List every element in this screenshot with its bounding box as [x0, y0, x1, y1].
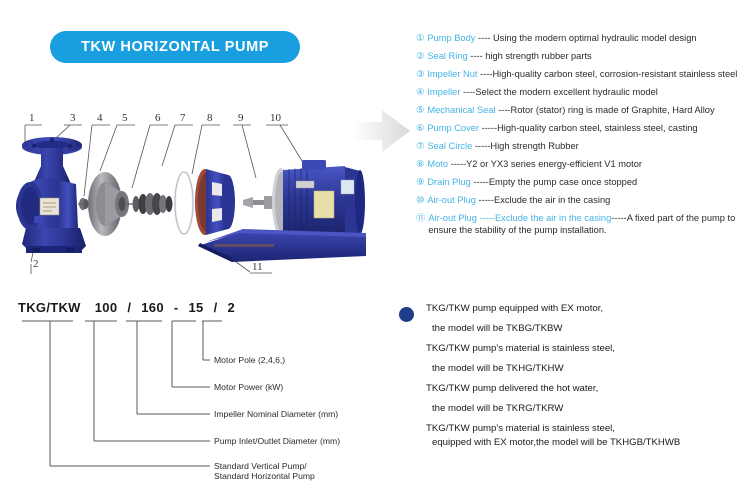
legend-number-8: ⑧	[416, 159, 424, 171]
callout-6: 6	[155, 112, 161, 124]
page-title-label: TKW HORIZONTAL PUMP	[81, 39, 269, 55]
callout-11: 11	[252, 261, 263, 273]
legend-item-3: ③ Impeller Nut ----High-quality carbon s…	[416, 69, 752, 81]
exploded-pump-figure: 1 3 4 5 6 7	[0, 96, 390, 286]
note-line-5: TKG/TKW pump delivered the hot water,	[426, 383, 751, 394]
callout-10: 10	[270, 112, 282, 124]
legend-item-10: ⑩ Air-out Plug -----Exclude the air in t…	[416, 195, 752, 207]
legend-item-6: ⑥ Pump Cover -----High-quality carbon st…	[416, 123, 752, 135]
callout-1: 1	[29, 112, 35, 124]
breakdown-label-motor-power: Motor Power (kW)	[214, 382, 283, 392]
legend-item-7: ⑦ Seal Circle -----High strength Rubber	[416, 141, 752, 153]
breakdown-label-motor-pole: Motor Pole (2,4,6,)	[214, 355, 285, 365]
note-line-4: the model will be TKHG/TKHW	[432, 363, 751, 374]
legend-number-5: ⑤	[416, 105, 424, 117]
legend-text-10: Air-out Plug -----Exclude the air in the…	[427, 195, 752, 207]
legend-text-4: Impeller ----Select the modern excellent…	[427, 87, 752, 99]
legend-text-8: Moto -----Y2 or YX3 series energy-effici…	[427, 159, 752, 171]
callout-3: 3	[70, 112, 76, 124]
page-title: TKW HORIZONTAL PUMP	[50, 31, 300, 63]
breakdown-label-standard-pump: Standard Vertical Pump/ Standard Horizon…	[214, 461, 315, 482]
pump-illustration: 1 3 4 5 6 7	[0, 96, 390, 286]
impeller-part	[88, 172, 129, 236]
legend-number-2: ②	[416, 51, 424, 63]
legend-item-1: ① Pump Body ---- Using the modern optima…	[416, 33, 752, 45]
legend-text-7: Seal Circle -----High strength Rubber	[427, 141, 752, 153]
legend-number-10: ⑩	[416, 195, 424, 207]
legend-number-9: ⑨	[416, 177, 424, 189]
seal-circle-part	[175, 172, 193, 234]
note-line-6: the model will be TKRG/TKRW	[432, 403, 751, 414]
callout-5: 5	[122, 112, 128, 124]
note-line-3: TKG/TKW pump's material is stainless ste…	[426, 343, 751, 354]
note-line-8: equipped with EX motor,the model will be…	[432, 437, 751, 448]
legend-number-3: ③	[416, 69, 424, 81]
legend-number-4: ④	[416, 87, 424, 99]
callout-7: 7	[180, 112, 186, 124]
breakdown-label-inlet-outlet-diameter: Pump Inlet/Outlet Diameter (mm)	[214, 436, 340, 446]
model-code-breakdown: TKG/TKW 100 / 160 - 15 / 2	[0, 296, 390, 500]
pump-datasheet-page: TKW HORIZONTAL PUMP	[0, 0, 756, 500]
legend-item-2: ② Seal Ring ---- high strength rubber pa…	[416, 51, 752, 63]
breakdown-label-impeller-diameter: Impeller Nominal Diameter (mm)	[214, 409, 338, 419]
legend-item-4: ④ Impeller ----Select the modern excelle…	[416, 87, 752, 99]
note-line-2: the model will be TKBG/TKBW	[432, 323, 751, 334]
note-line-1: TKG/TKW pump equipped with EX motor,	[426, 303, 751, 314]
legend-text-5: Mechanical Seal ----Rotor (stator) ring …	[427, 105, 752, 117]
legend-text-11: Air-out Plug -----Exclude the air in the…	[428, 213, 752, 236]
callout-2: 2	[33, 258, 39, 270]
impeller-nut-part	[78, 198, 89, 210]
legend-item-11: ⑪ Air-out Plug -----Exclude the air in t…	[416, 213, 752, 236]
pump-cover-part	[195, 169, 235, 235]
callout-8: 8	[207, 112, 213, 124]
legend-item-8: ⑧ Moto -----Y2 or YX3 series energy-effi…	[416, 159, 752, 171]
legend-item-5: ⑤ Mechanical Seal ----Rotor (stator) rin…	[416, 105, 752, 117]
model-naming-notes: TKG/TKW pump equipped with EX motor, the…	[399, 303, 751, 457]
note-line-7: TKG/TKW pump's material is stainless ste…	[426, 423, 751, 434]
legend-number-7: ⑦	[416, 141, 424, 153]
bullet-icon	[399, 307, 414, 322]
legend-text-3: Impeller Nut ----High-quality carbon ste…	[427, 69, 752, 81]
breakdown-leader-lines	[0, 296, 390, 500]
legend-text-9: Drain Plug -----Empty the pump case once…	[427, 177, 752, 189]
legend-number-6: ⑥	[416, 123, 424, 135]
callout-9: 9	[238, 112, 244, 124]
base-plate-part	[198, 229, 366, 262]
legend-number-11: ⑪	[416, 213, 425, 225]
callout-4: 4	[97, 112, 103, 124]
legend-text-2: Seal Ring ---- high strength rubber part…	[427, 51, 752, 63]
legend-text-6: Pump Cover -----High-quality carbon stee…	[427, 123, 752, 135]
pump-body-part	[16, 137, 86, 253]
mechanical-seal-part	[127, 193, 173, 215]
legend-text-1: Pump Body ---- Using the modern optimal …	[427, 33, 752, 45]
right-arrow-icon	[352, 100, 414, 162]
legend-number-1: ①	[416, 33, 424, 45]
legend-item-9: ⑨ Drain Plug -----Empty the pump case on…	[416, 177, 752, 189]
parts-legend-list: ① Pump Body ---- Using the modern optima…	[416, 33, 752, 243]
